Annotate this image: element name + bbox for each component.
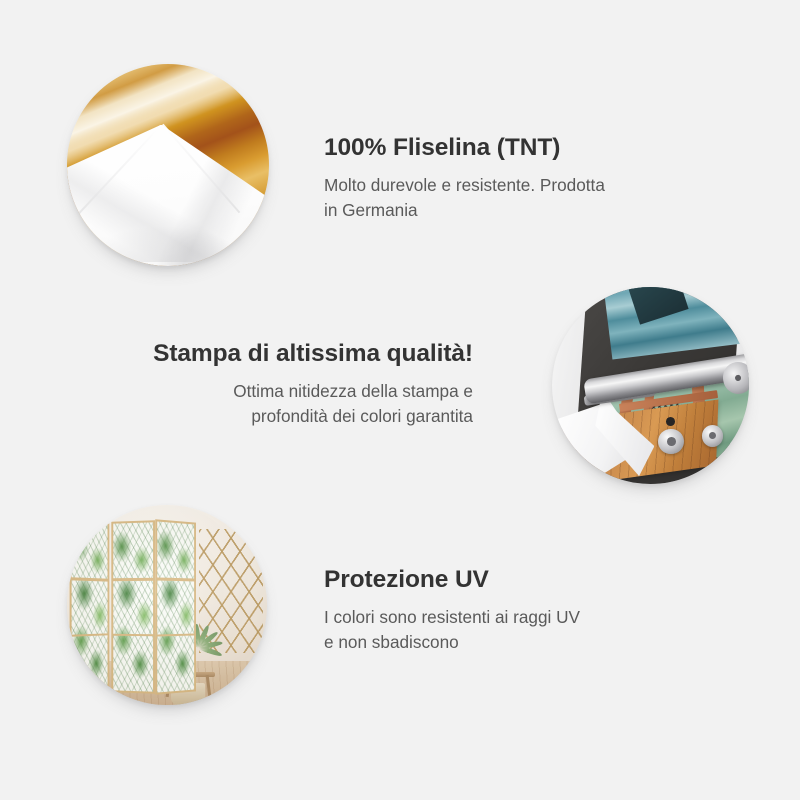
feature-image-protezione-uv [67,505,267,705]
feature-title: Stampa di altissima qualità! [140,340,473,368]
feature-description-line: in Germania [324,200,418,220]
printing-press-machine-icon [552,287,749,484]
tropical-room-divider-icon [67,505,267,705]
feature-description-line: Ottima nitidezza della stampa e [233,381,473,401]
feature-list-page: 100% Fliselina (TNT) Molto durevole e re… [0,0,800,800]
feature-title: Protezione UV [324,566,674,594]
press-knob-dark [666,417,675,426]
feature-description-line: e non sbadiscono [324,632,459,652]
feature-text-stampa: Stampa di altissima qualità! Ottima niti… [140,340,473,428]
feature-text-fliselina: 100% Fliselina (TNT) Molto durevole e re… [324,134,674,222]
feature-image-fliselina [67,64,269,266]
wallpaper-roll-peeled-corner-icon [67,64,269,266]
feature-description: Ottima nitidezza della stampa e profondi… [140,379,473,428]
press-roller-knob [702,425,724,447]
feature-text-protezione-uv: Protezione UV I colori sono resistenti a… [324,566,674,654]
feature-description-line: Molto durevole e resistente. Prodotta [324,175,605,195]
feature-description-line: profondità dei colori garantita [251,406,473,426]
feature-image-stampa [552,287,749,484]
feature-description: I colori sono resistenti ai raggi UV e n… [324,605,674,654]
wallpaper-contact-shadow [83,226,245,262]
feature-title: 100% Fliselina (TNT) [324,134,674,162]
feature-description: Molto durevole e resistente. Prodotta in… [324,173,674,222]
feature-description-line: I colori sono resistenti ai raggi UV [324,607,580,627]
room-vignette [67,505,267,705]
